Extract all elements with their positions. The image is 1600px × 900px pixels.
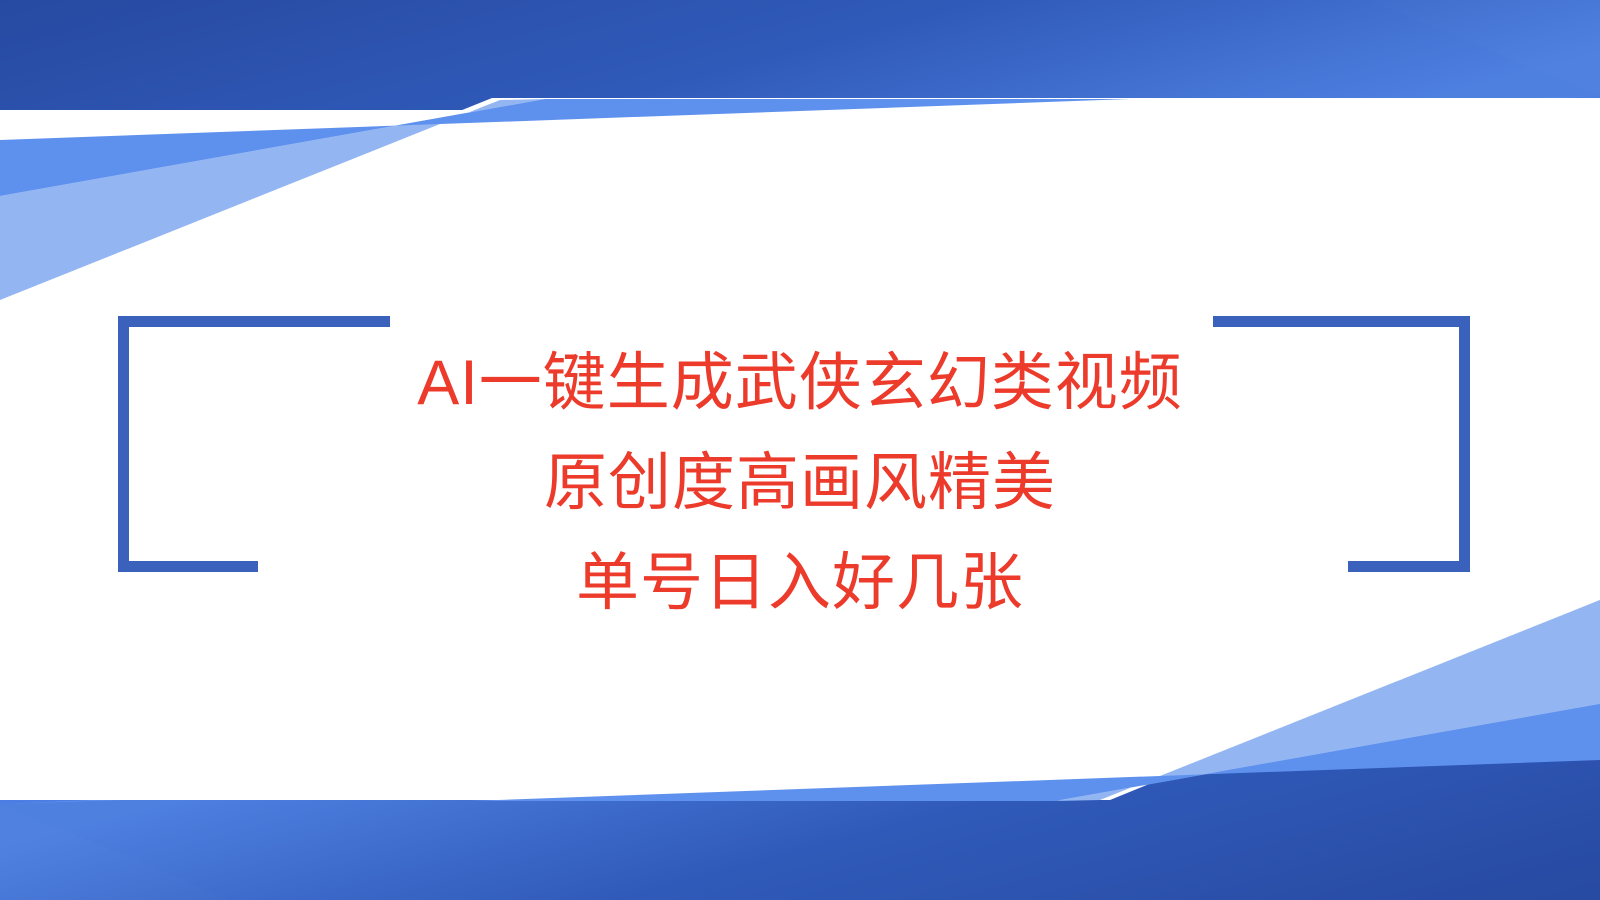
headline-line-2: 原创度高画风精美: [0, 452, 1600, 515]
promo-banner: AI一键生成武侠玄幻类视频 原创度高画风精美 单号日入好几张: [0, 0, 1600, 900]
headline-block: AI一键生成武侠玄幻类视频 原创度高画风精美 单号日入好几张: [0, 352, 1600, 615]
headline-line-3: 单号日入好几张: [0, 552, 1600, 615]
headline-line-1: AI一键生成武侠玄幻类视频: [0, 352, 1600, 415]
